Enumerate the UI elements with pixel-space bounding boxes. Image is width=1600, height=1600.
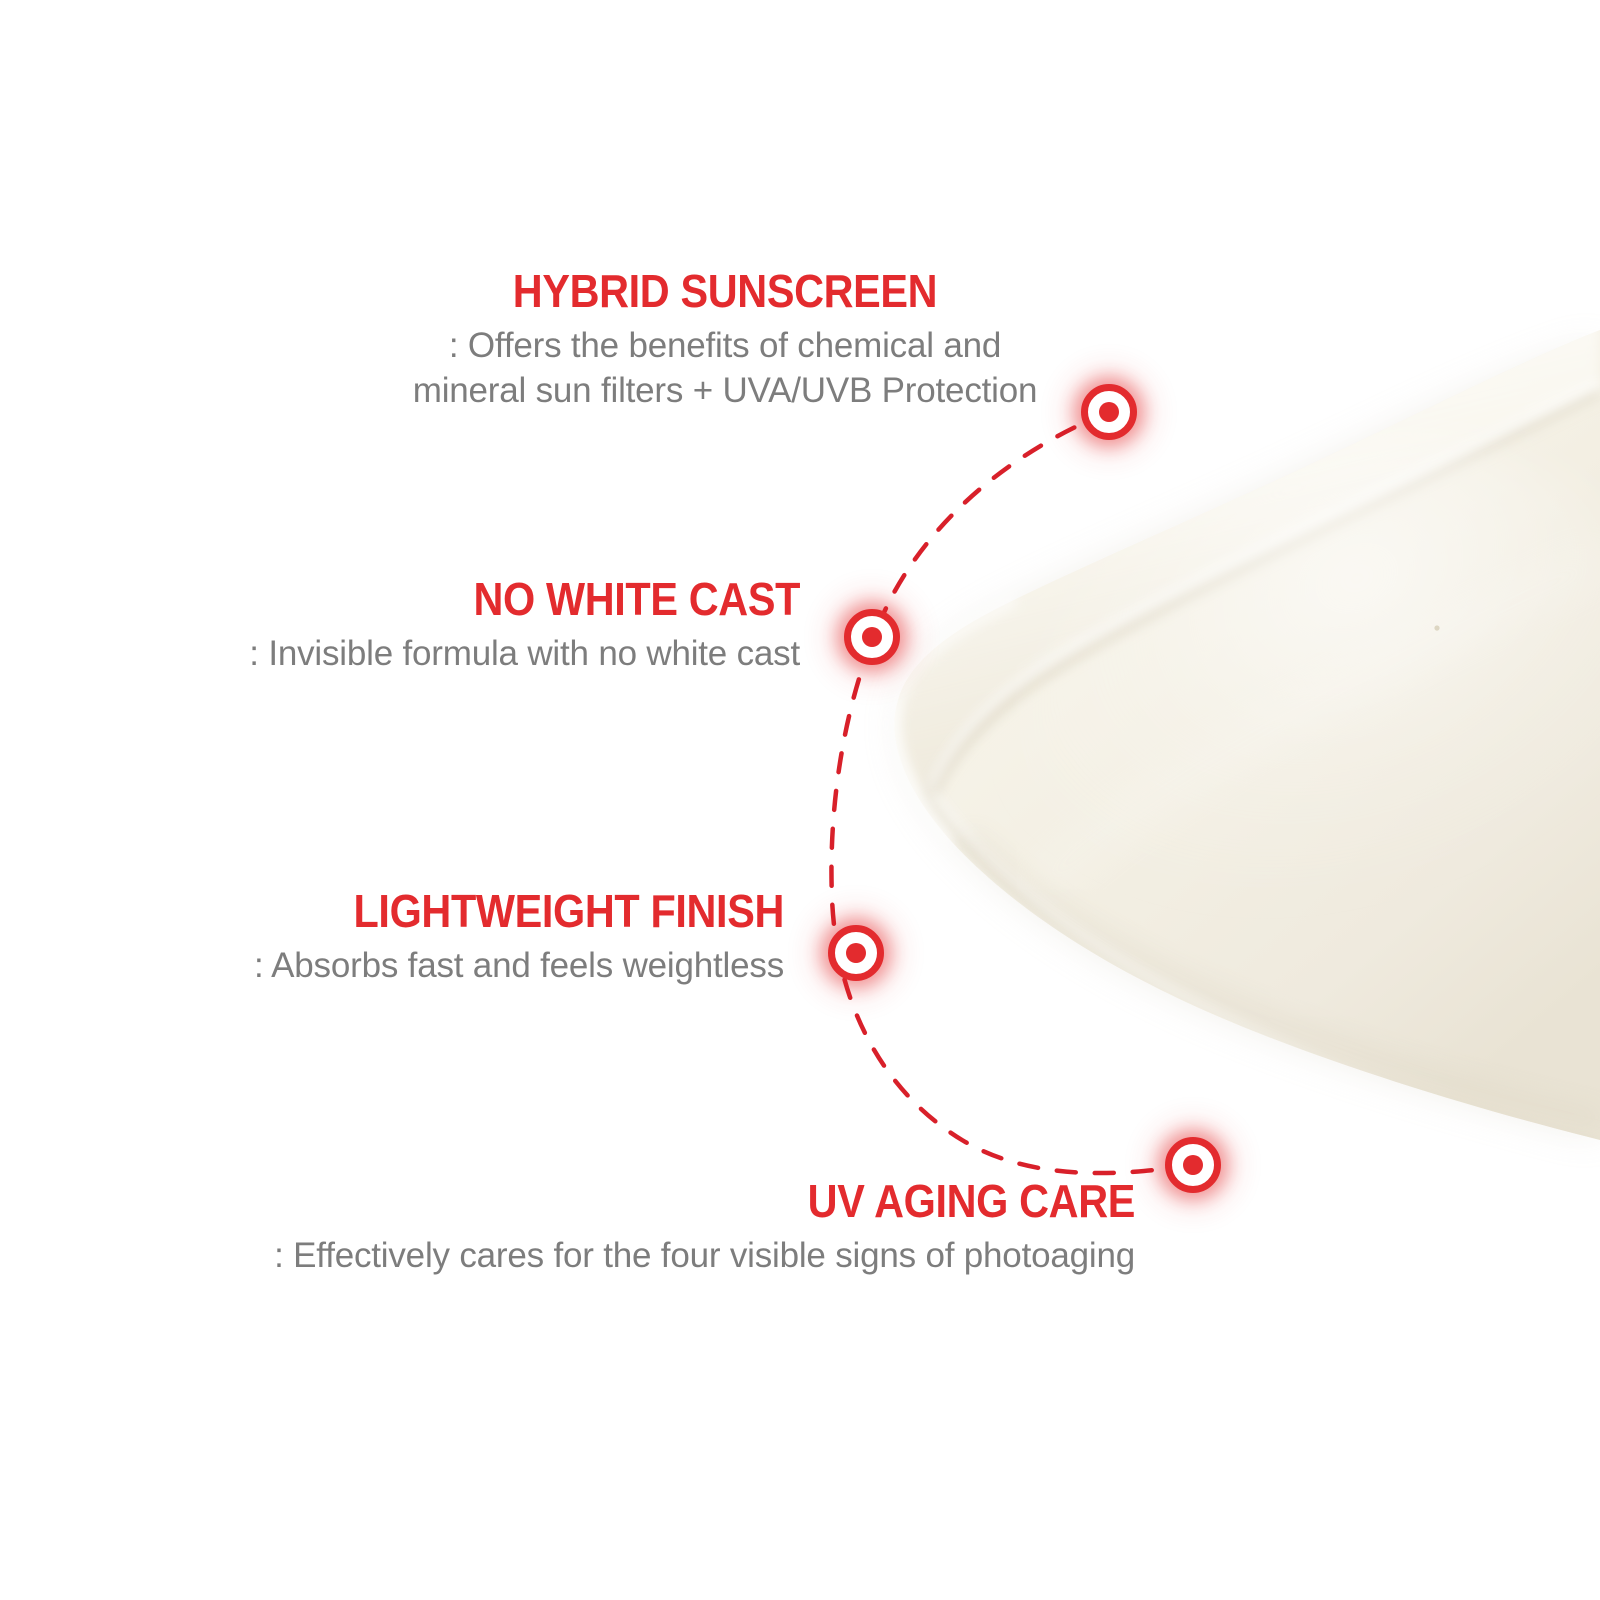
feature-description-no-white-cast: : Invisible formula with no white cast: [200, 631, 800, 677]
feature-description-line-2: mineral sun filters + UVA/UVB Protection: [380, 368, 1070, 414]
feature-description-hybrid-sunscreen: : Offers the benefits of chemical and mi…: [380, 323, 1070, 414]
feature-description-line-1: : Offers the benefits of chemical and: [380, 323, 1070, 369]
dashed-connector-curve: [0, 0, 1600, 1600]
feature-description-lightweight-finish: : Absorbs fast and feels weightless: [180, 943, 784, 989]
target-dot-icon-uv-aging-care[interactable]: [1165, 1137, 1221, 1193]
feature-title-uv-aging-care: UV AGING CARE: [276, 1178, 1136, 1226]
feature-title-lightweight-finish: LIGHTWEIGHT FINISH: [240, 888, 784, 936]
target-dot-icon-no-white-cast[interactable]: [844, 609, 900, 665]
infographic-canvas: HYBRID SUNSCREEN : Offers the benefits o…: [0, 0, 1600, 1600]
feature-title-no-white-cast: NO WHITE CAST: [260, 576, 800, 624]
target-dot-icon-hybrid-sunscreen[interactable]: [1081, 384, 1137, 440]
feature-lightweight-finish: LIGHTWEIGHT FINISH : Absorbs fast and fe…: [180, 888, 784, 988]
cream-swatch: [0, 0, 1600, 1600]
feature-hybrid-sunscreen: HYBRID SUNSCREEN : Offers the benefits o…: [380, 268, 1070, 414]
target-dot-icon-lightweight-finish[interactable]: [828, 925, 884, 981]
feature-no-white-cast: NO WHITE CAST : Invisible formula with n…: [200, 576, 800, 676]
feature-uv-aging-care: UV AGING CARE : Effectively cares for th…: [180, 1178, 1135, 1278]
feature-title-hybrid-sunscreen: HYBRID SUNSCREEN: [415, 268, 1036, 316]
feature-description-uv-aging-care: : Effectively cares for the four visible…: [180, 1233, 1135, 1279]
